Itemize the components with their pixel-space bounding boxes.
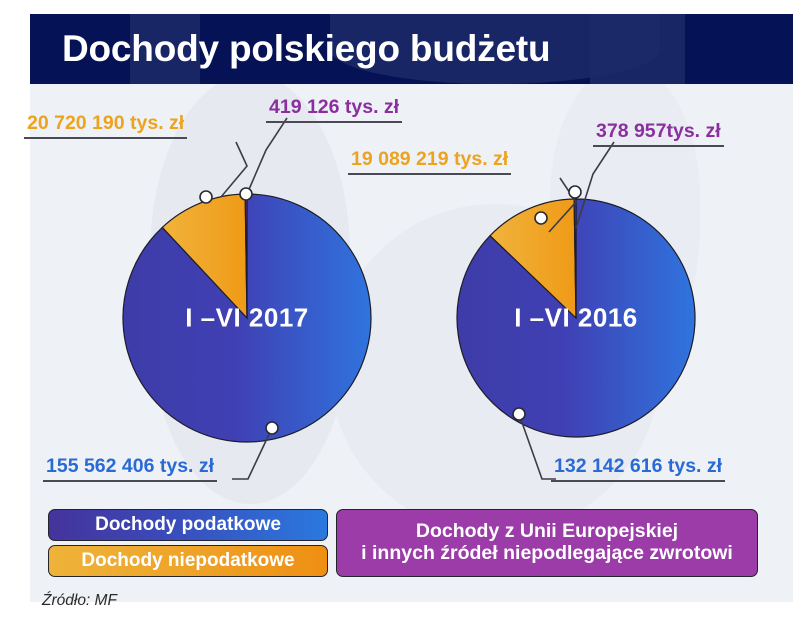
callout-underline: [593, 145, 724, 147]
legend-item-eu-label-line1: Dochody z Unii Europejskiej: [416, 521, 678, 543]
callout-tax-2017: 155 562 406 tys. zł: [43, 455, 217, 482]
callout-underline: [348, 173, 511, 175]
legend-item-nontax[interactable]: Dochody niepodatkowe: [48, 545, 328, 577]
callout-underline: [551, 480, 725, 482]
callout-nontax-2016: 19 089 219 tys. zł: [348, 148, 511, 175]
infographic-root: Dochody polskiego budżetu I –VI 2017 I –…: [0, 0, 805, 632]
callout-eu-2017-value: 419 126 tys. zł: [266, 96, 402, 121]
callout-nontax-2017-value: 20 720 190 tys. zł: [24, 112, 187, 137]
callout-eu-2017: 419 126 tys. zł: [266, 96, 402, 123]
legend-left: Dochody podatkowe Dochody niepodatkowe: [48, 509, 328, 577]
callout-underline: [266, 121, 402, 123]
legend-item-tax-label: Dochody podatkowe: [95, 514, 281, 536]
callout-tax-2016: 132 142 616 tys. zł: [551, 455, 725, 482]
legend-item-eu[interactable]: Dochody z Unii Europejskiej i innych źró…: [336, 509, 758, 577]
legend-item-eu-label-line2: i innych źródeł niepodlegające zwrotowi: [361, 543, 733, 565]
callout-underline: [24, 137, 187, 139]
callout-eu-2016: 378 957tys. zł: [593, 120, 724, 147]
callout-eu-2016-value: 378 957tys. zł: [593, 120, 724, 145]
callout-underline: [43, 480, 217, 482]
callout-tax-2016-value: 132 142 616 tys. zł: [551, 455, 725, 480]
pie-title-2017: I –VI 2017: [185, 303, 309, 334]
source-note: Źródło: MF: [42, 592, 117, 610]
callout-nontax-2016-value: 19 089 219 tys. zł: [348, 148, 511, 173]
pie-title-2016: I –VI 2016: [514, 303, 638, 334]
legend-item-nontax-label: Dochody niepodatkowe: [81, 550, 294, 572]
callout-tax-2017-value: 155 562 406 tys. zł: [43, 455, 217, 480]
callout-nontax-2017: 20 720 190 tys. zł: [24, 112, 187, 139]
legend-item-tax[interactable]: Dochody podatkowe: [48, 509, 328, 541]
